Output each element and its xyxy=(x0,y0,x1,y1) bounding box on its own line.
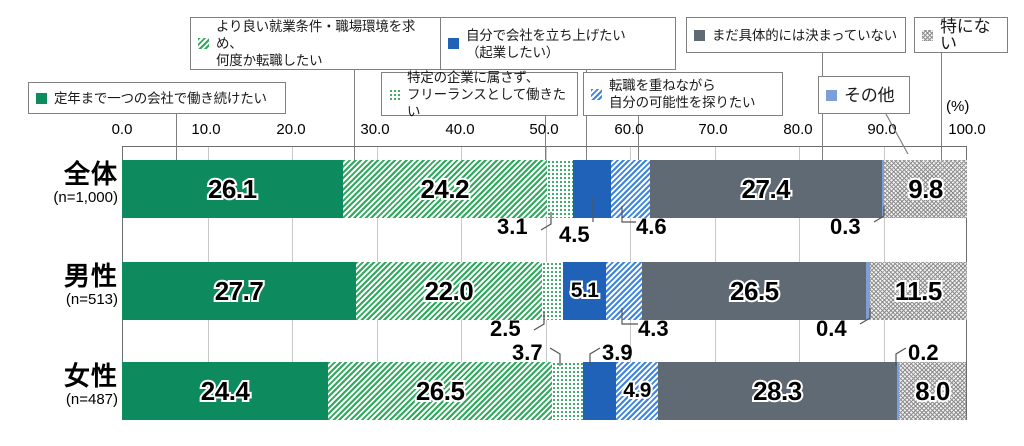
segment-value-1-7: 11.5 xyxy=(895,276,942,307)
segment-0-5[interactable]: 27.4 xyxy=(650,160,882,218)
legend-leader-0 xyxy=(176,114,177,162)
legend-swatch-light-blue xyxy=(826,90,837,101)
legend-leader-1 xyxy=(354,70,355,162)
segment-2-0[interactable]: 24.4 xyxy=(122,362,328,420)
segment-value-2-5: 28.3 xyxy=(753,376,802,407)
legend-swatch-green-diagonal xyxy=(198,38,209,49)
category-label-2: 女性 (n=487) xyxy=(6,362,118,409)
segment-value-2-7: 8.0 xyxy=(915,376,950,407)
segment-value-0-0: 26.1 xyxy=(208,174,257,205)
legend-item-4[interactable]: 転職を重ねながら 自分の可能性を探りたい xyxy=(583,72,783,116)
legend-label-3: 自分で会社を立ち上げたい （起業したい） xyxy=(466,27,626,61)
callout-0-3: 4.5 xyxy=(559,222,590,248)
category-name-0: 全体 xyxy=(6,160,118,189)
callout-line-0-3 xyxy=(591,198,597,222)
callout-line-2-3 xyxy=(578,348,602,370)
callout-1-4: 4.3 xyxy=(638,316,669,342)
segment-1-1[interactable]: 22.0 xyxy=(356,262,542,320)
segment-0-0[interactable]: 26.1 xyxy=(122,160,343,218)
segment-2-5[interactable]: 28.3 xyxy=(658,362,897,420)
legend-leader-7 xyxy=(941,53,942,162)
legend-label-1: より良い就業条件・職場環境を求め、 何度か転職したい xyxy=(216,18,437,69)
legend-swatch-grey xyxy=(694,30,705,41)
xtick-6: 60.0 xyxy=(614,121,643,138)
segment-value-2-1: 26.5 xyxy=(416,376,465,407)
legend-label-0: 定年まで一つの会社で働き続けたい xyxy=(54,90,267,107)
callout-line-2-2 xyxy=(550,348,572,370)
category-n-2: (n=487) xyxy=(6,391,118,409)
callout-2-2: 3.7 xyxy=(512,340,543,366)
segment-value-1-3: 5.1 xyxy=(571,279,599,303)
legend-item-1[interactable]: より良い就業条件・職場環境を求め、 何度か転職したい xyxy=(190,17,445,70)
callout-0-4: 4.6 xyxy=(636,214,667,240)
callout-line-0-4 xyxy=(614,206,638,228)
xtick-3: 30.0 xyxy=(360,121,389,138)
bar-row-2: 24.4 26.5 4.9 28.3 8.0 xyxy=(122,362,967,420)
legend-swatch-checker xyxy=(922,30,933,41)
callout-line-1-2 xyxy=(532,312,554,334)
callout-line-1-4 xyxy=(614,308,640,330)
legend-swatch-blue xyxy=(448,38,459,49)
category-label-0: 全体 (n=1,000) xyxy=(6,160,118,207)
segment-value-0-7: 9.8 xyxy=(908,174,943,205)
segment-2-4[interactable]: 4.9 xyxy=(616,362,657,420)
callout-line-0-2 xyxy=(539,212,561,232)
segment-value-0-5: 27.4 xyxy=(742,174,791,205)
segment-2-2[interactable] xyxy=(552,362,583,420)
category-name-1: 男性 xyxy=(6,262,118,291)
callout-line-1-6 xyxy=(860,308,878,330)
xtick-7: 70.0 xyxy=(698,121,727,138)
legend-swatch-green xyxy=(36,93,47,104)
axis-unit-label: (%) xyxy=(946,98,969,115)
legend-label-4: 転職を重ねながら 自分の可能性を探りたい xyxy=(609,77,755,111)
xtick-5: 50.0 xyxy=(529,121,558,138)
category-n-0: (n=1,000) xyxy=(6,189,118,207)
xtick-4: 40.0 xyxy=(445,121,474,138)
legend-item-2[interactable]: 特定の企業に属さず、 フリーランスとして働きたい xyxy=(381,72,578,116)
legend-swatch-green-dotted xyxy=(389,89,400,100)
legend-leader-6 xyxy=(884,114,920,162)
legend-label-6: その他 xyxy=(844,87,894,104)
callout-2-6: 0.2 xyxy=(908,340,939,366)
callout-line-0-6 xyxy=(874,206,892,228)
segment-1-5[interactable]: 26.5 xyxy=(642,262,866,320)
bar-row-0: 26.1 24.2 27.4 9.8 xyxy=(122,160,967,218)
legend-item-7[interactable]: 特にない xyxy=(914,17,1008,53)
legend-swatch-blue-diagonal xyxy=(591,89,602,100)
legend-label-7: 特にない xyxy=(940,18,1000,52)
legend-label-2: 特定の企業に属さず、 フリーランスとして働きたい xyxy=(407,69,570,120)
callout-0-6: 0.3 xyxy=(830,214,861,240)
segment-1-0[interactable]: 27.7 xyxy=(122,262,356,320)
xtick-8: 80.0 xyxy=(783,121,812,138)
category-label-1: 男性 (n=513) xyxy=(6,262,118,309)
segment-value-1-0: 27.7 xyxy=(215,276,264,307)
segment-0-1[interactable]: 24.2 xyxy=(343,160,548,218)
segment-0-2[interactable] xyxy=(547,160,573,218)
legend-item-0[interactable]: 定年まで一つの会社で働き続けたい xyxy=(28,82,286,114)
legend-item-6[interactable]: その他 xyxy=(818,76,910,114)
callout-line-2-6 xyxy=(884,348,908,370)
segment-value-0-1: 24.2 xyxy=(420,174,469,205)
xtick-1: 10.0 xyxy=(191,121,220,138)
callout-1-2: 2.5 xyxy=(490,316,521,342)
segment-2-7[interactable]: 8.0 xyxy=(899,362,967,420)
segment-0-7[interactable]: 9.8 xyxy=(884,160,967,218)
legend-item-5[interactable]: まだ具体的には決まっていない xyxy=(686,17,906,53)
xtick-0: 0.0 xyxy=(112,121,133,138)
legend-label-5: まだ具体的には決まっていない xyxy=(712,27,897,44)
xtick-2: 20.0 xyxy=(276,121,305,138)
segment-1-7[interactable]: 11.5 xyxy=(870,262,967,320)
segment-value-2-0: 24.4 xyxy=(201,376,250,407)
category-name-2: 女性 xyxy=(6,362,118,391)
category-n-1: (n=513) xyxy=(6,291,118,309)
segment-1-3[interactable]: 5.1 xyxy=(563,262,606,320)
callout-0-2: 3.1 xyxy=(497,214,528,240)
segment-value-1-5: 26.5 xyxy=(730,276,779,307)
legend-item-3[interactable]: 自分で会社を立ち上げたい （起業したい） xyxy=(440,17,676,70)
chart-root: 定年まで一つの会社で働き続けたい より良い就業条件・職場環境を求め、 何度か転職… xyxy=(0,0,1024,446)
callout-2-3: 3.9 xyxy=(602,340,633,366)
segment-2-1[interactable]: 26.5 xyxy=(328,362,552,420)
segment-value-2-4: 4.9 xyxy=(623,379,651,403)
segment-2-3[interactable] xyxy=(583,362,616,420)
xtick-10: 100.0 xyxy=(948,121,986,138)
callout-1-6: 0.4 xyxy=(816,316,847,342)
segment-value-1-1: 22.0 xyxy=(425,276,474,307)
